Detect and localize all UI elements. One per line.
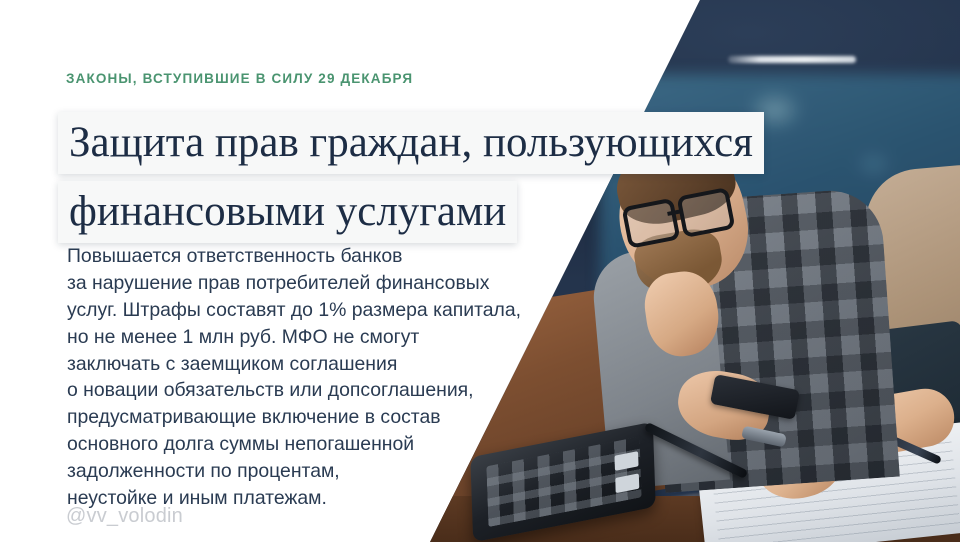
- headline-line-1: Защита прав граждан, пользующихся: [58, 112, 764, 174]
- ceiling-light-streak: [728, 56, 856, 63]
- social-media-info-card: ЗАКОНЫ, ВСТУПИВШИЕ В СИЛУ 29 ДЕКАБРЯ Защ…: [0, 0, 960, 542]
- headline-line-2: финансовыми услугами: [58, 181, 517, 243]
- account-handle-watermark: @vv_volodin: [66, 505, 183, 528]
- body-paragraph: Повышается ответственность банков за нар…: [67, 243, 547, 512]
- page-title: Защита прав граждан, пользующихся финанс…: [58, 112, 678, 250]
- eyebrow-kicker: ЗАКОНЫ, ВСТУПИВШИЕ В СИЛУ 29 ДЕКАБРЯ: [66, 71, 413, 86]
